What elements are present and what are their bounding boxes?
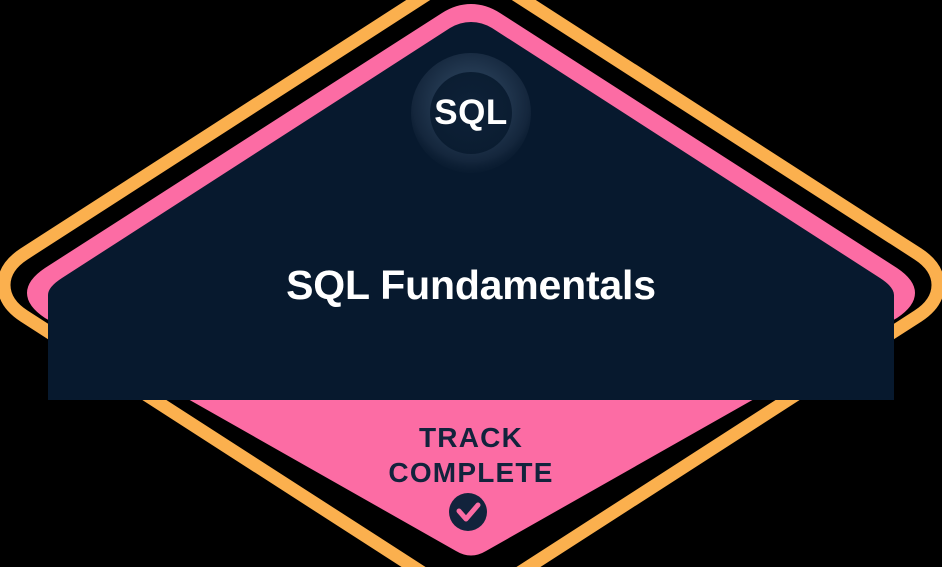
check-badge-circle	[449, 493, 487, 531]
badge-stage: SQL SQL Fundamentals TRACK COMPLETE	[0, 0, 942, 567]
status-line-track: TRACK	[221, 420, 721, 455]
status-line-complete: COMPLETE	[221, 455, 721, 490]
track-title: SQL Fundamentals	[71, 258, 871, 312]
track-status-label: TRACK COMPLETE	[221, 420, 721, 490]
track-abbreviation: SQL	[371, 92, 571, 134]
